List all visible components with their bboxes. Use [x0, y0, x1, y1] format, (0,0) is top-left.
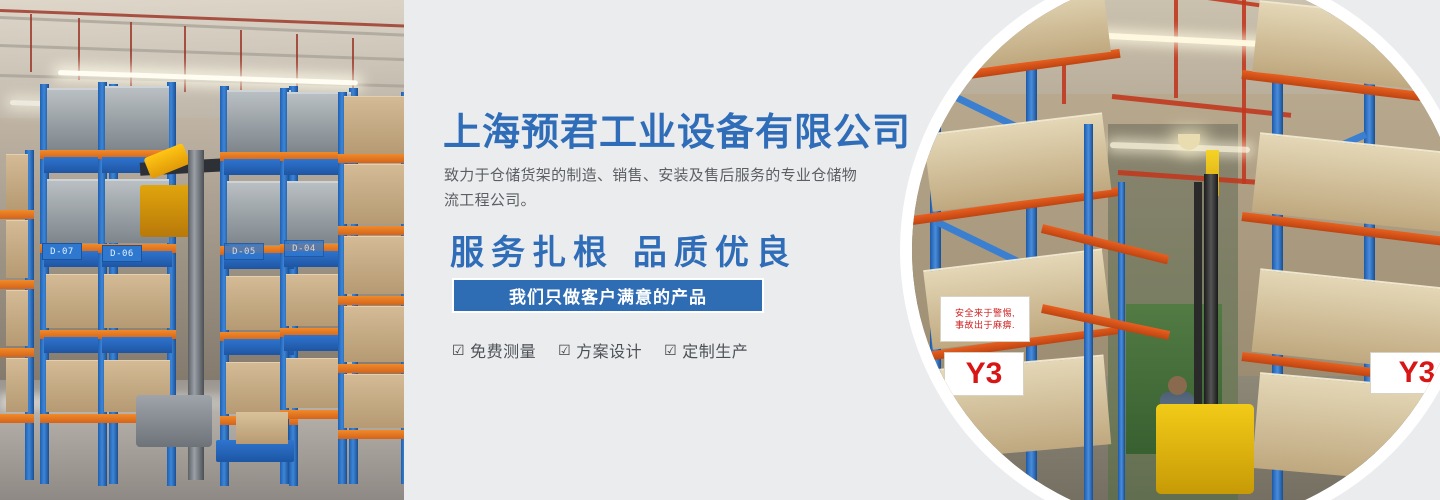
- rack-bay: [0, 150, 34, 480]
- floor-carton: [236, 412, 288, 444]
- rack-location-label: D-06: [102, 245, 142, 262]
- right-warehouse-photo: 安全来于警惕, 事故出于麻痹. Y3 Y3: [912, 0, 1440, 500]
- forklift-body: [1156, 404, 1254, 494]
- checkbox-checked-icon: ☑: [558, 343, 571, 357]
- rack-location-label: D-04: [284, 240, 324, 257]
- feature-label: 方案设计: [576, 338, 642, 362]
- sprinkler-drop: [184, 26, 186, 92]
- feature-label: 定制生产: [682, 338, 748, 362]
- banner-slogan: 服务扎根 品质优良: [450, 225, 797, 274]
- sprinkler-drop: [240, 30, 242, 94]
- cta-button[interactable]: 我们只做客户满意的产品: [452, 278, 764, 313]
- hero-banner: D-07 D-06: [0, 0, 1440, 500]
- sprinkler-drop: [1242, 0, 1246, 184]
- feature-item-free-measure: ☑ 免费测量: [452, 338, 536, 362]
- rack-location-label: D-07: [42, 243, 82, 260]
- page-title: 上海预君工业设备有限公司: [443, 101, 911, 156]
- safety-sign: 安全来于警惕, 事故出于麻痹.: [940, 296, 1030, 342]
- aisle-label-sign: Y3: [944, 352, 1024, 396]
- right-photo-wrapper: 安全来于警惕, 事故出于麻痹. Y3 Y3: [920, 0, 1440, 500]
- sprinkler-drop: [30, 14, 32, 72]
- rack-upright: [1118, 182, 1125, 500]
- left-warehouse-photo: D-07 D-06: [0, 0, 404, 500]
- rack-location-label: D-05: [224, 243, 264, 260]
- feature-item-custom-production: ☑ 定制生产: [664, 338, 748, 362]
- checkbox-checked-icon: ☑: [452, 343, 465, 357]
- aisle-label-sign-right: Y3: [1370, 352, 1440, 394]
- sprinkler-drop: [130, 22, 132, 88]
- sprinkler-drop: [1174, 0, 1178, 98]
- feature-list: ☑ 免费测量 ☑ 方案设计 ☑ 定制生产: [452, 338, 748, 362]
- safety-sign-line-1: 安全来于警惕,: [955, 307, 1015, 319]
- forklift-base: [136, 395, 212, 447]
- banner-subtitle: 致力于仓储货架的制造、销售、安装及售后服务的专业仓储物流工程公司。: [444, 163, 864, 213]
- feature-label: 免费测量: [470, 338, 536, 362]
- rack-bay: [338, 92, 404, 484]
- feature-item-scheme-design: ☑ 方案设计: [558, 338, 642, 362]
- checkbox-checked-icon: ☑: [664, 343, 677, 357]
- safety-sign-line-2: 事故出于麻痹.: [955, 319, 1015, 331]
- rack-upright: [1084, 124, 1093, 500]
